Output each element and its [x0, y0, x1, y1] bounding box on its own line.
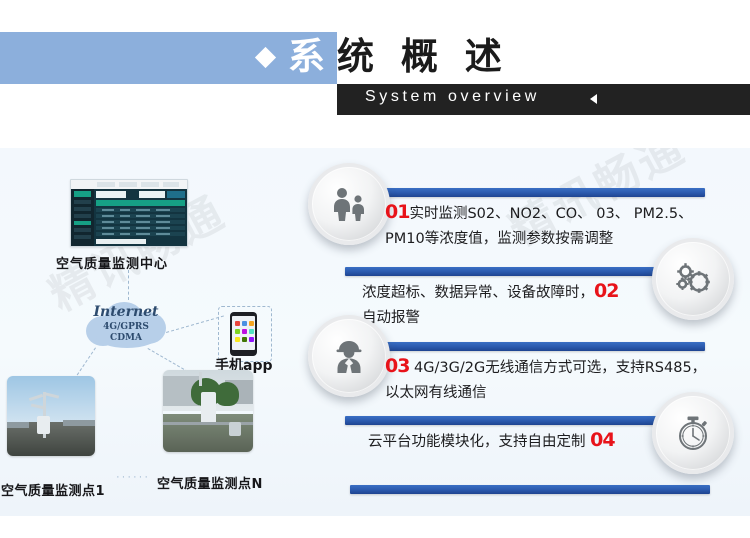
- screen-table-row: [96, 232, 185, 236]
- screen-nav-item: [74, 214, 91, 218]
- screen-table-row: [96, 226, 185, 230]
- internet-cloud-icon: Internet 4G/GPRS CDMA: [82, 298, 170, 350]
- feature-item-3-text: 03 4G/3G/2G无线通信方式可选，支持RS485， 以太网有线通信: [385, 354, 710, 406]
- screen-tab: [163, 182, 179, 187]
- left-arrow-icon: [590, 94, 597, 104]
- label-monitoring-center: 空气质量监测中心: [56, 253, 168, 272]
- smartphone-icon: [230, 312, 257, 356]
- feature-divider-bar: [350, 485, 710, 494]
- photo-mast: [199, 372, 202, 386]
- screen-tab: [119, 182, 137, 187]
- feature-label-4: 云平台功能模块化，支持自由定制: [368, 434, 590, 450]
- screen-nav-item: [74, 200, 91, 204]
- header-blue-band: [0, 32, 337, 84]
- feature-number-03: 03: [385, 355, 409, 377]
- cloud-label-cdma: CDMA: [82, 333, 170, 343]
- sites-ellipsis: ······: [116, 471, 150, 483]
- feature-number-02: 02: [594, 280, 618, 302]
- screen-table-header: [96, 200, 185, 206]
- screen-nav-item: [74, 228, 91, 232]
- feature-divider-bar: [353, 342, 705, 351]
- worker-icon: [308, 315, 390, 397]
- feature-item-1-text: 01实时监测S02、NO2、CO、 03、 PM2.5、PM10等浓度值，监测参…: [385, 200, 715, 252]
- monitoring-site-1-photo: [7, 376, 95, 456]
- screen-content: [94, 189, 187, 246]
- photo-sensor-box: [229, 422, 241, 436]
- feature-divider-bar: [353, 188, 705, 197]
- page-title: 统 概 述: [337, 34, 509, 80]
- feature-label-1: 实时监测S02、NO2、CO、 03、 PM2.5、PM10等浓度值，监测参数按…: [385, 206, 693, 247]
- screen-table-row: [96, 220, 185, 224]
- link-cloud-to-phone: [166, 315, 224, 332]
- system-topology-diagram: 空气质量监测中心 Internet 4G/GPRS CDMA: [0, 148, 320, 516]
- photo-sky: [7, 376, 95, 422]
- link-center-to-cloud: [128, 270, 129, 300]
- screen-toolbar-buttons: [167, 191, 185, 198]
- feature-label-2a: 浓度超标、数据异常、设备故障时，: [362, 285, 594, 301]
- screen-filter-field: [139, 191, 165, 198]
- label-monitoring-site-n: 空气质量监测点N: [157, 473, 263, 492]
- monitoring-center-screen: [70, 179, 188, 247]
- page-header: 系 统 概 述 System overview: [0, 0, 750, 148]
- screen-nav-item-active: [74, 221, 91, 225]
- photo-building: [7, 422, 29, 428]
- feature-divider-bar: [345, 267, 705, 276]
- screen-tab: [97, 182, 115, 187]
- screen-nav-item: [74, 207, 91, 211]
- photo-sensor-box: [201, 392, 216, 424]
- screen-nav-item: [74, 235, 91, 239]
- screen-pagination: [96, 239, 146, 244]
- page-footer-space: [0, 516, 750, 538]
- screen-search-field: [96, 191, 126, 198]
- cloud-label-network: 4G/GPRS: [82, 322, 170, 332]
- content-panel: 精讯畅通 精讯畅通: [0, 148, 750, 516]
- gears-icon: [652, 238, 734, 320]
- page-subtitle: System overview: [365, 88, 540, 106]
- screen-logo: [74, 191, 91, 197]
- label-monitoring-site-1: 空气质量监测点1: [1, 480, 105, 499]
- feature-item-2-text: 浓度超标、数据异常、设备故障时，02 自动报警: [362, 279, 662, 331]
- feature-label-3: 4G/3G/2G无线通信方式可选，支持RS485， 以太网有线通信: [385, 360, 706, 401]
- feature-item-4-text: 云平台功能模块化，支持自由定制 04: [368, 428, 668, 455]
- photo-tree: [215, 382, 239, 406]
- monitoring-site-n-photo: [163, 370, 253, 452]
- phone-screen: [232, 316, 255, 350]
- photo-building: [63, 420, 95, 426]
- page-title-first-char: 系: [288, 34, 327, 80]
- photo-sensor-box: [37, 416, 50, 434]
- cloud-label-internet: Internet: [82, 304, 170, 320]
- screen-table-row: [96, 208, 185, 212]
- screen-tab: [141, 182, 159, 187]
- page-root: 系 统 概 述 System overview 精讯畅通 精讯畅通: [0, 0, 750, 538]
- feature-number-01: 01: [385, 201, 409, 223]
- screen-table-row: [96, 214, 185, 218]
- family-people-icon: [308, 163, 390, 245]
- feature-divider-bar: [345, 416, 705, 425]
- feature-number-04: 04: [590, 429, 614, 451]
- feature-list: 01实时监测S02、NO2、CO、 03、 PM2.5、PM10等浓度值，监测参…: [300, 148, 750, 516]
